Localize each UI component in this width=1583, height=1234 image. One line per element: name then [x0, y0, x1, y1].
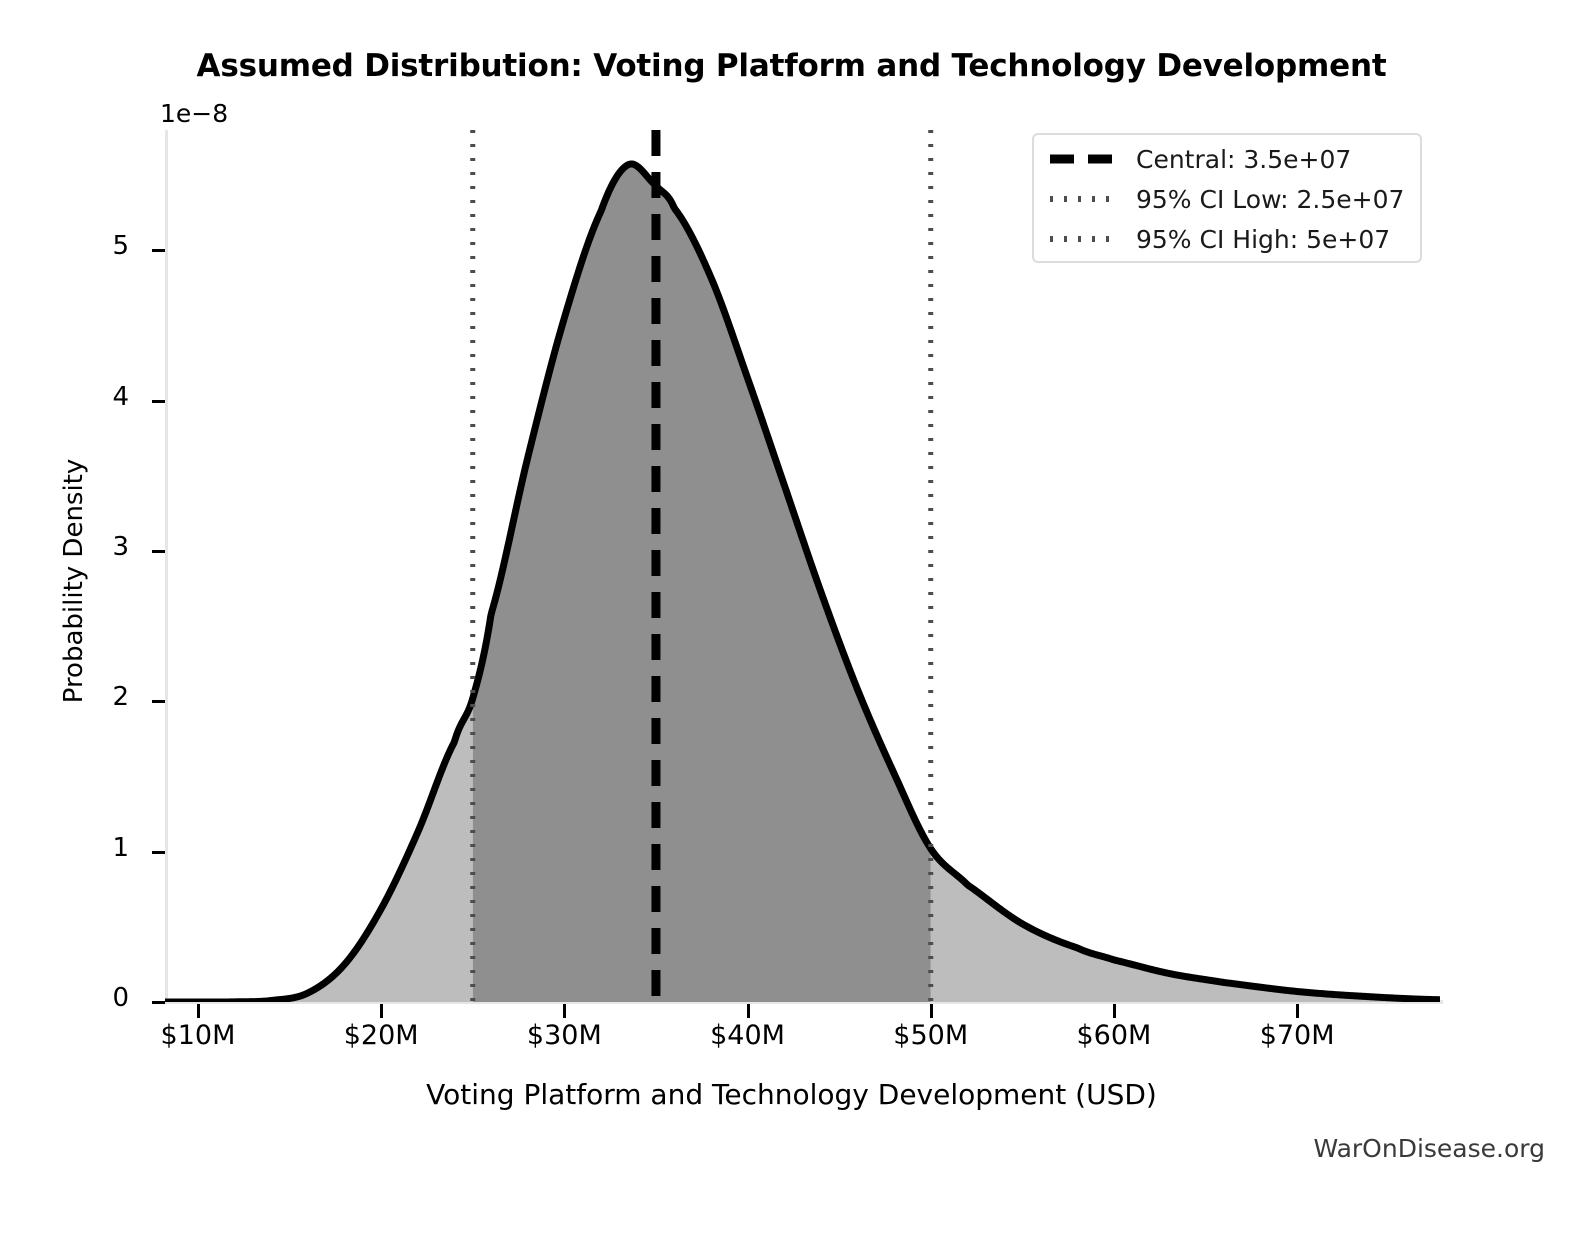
x-tick-mark — [197, 1004, 200, 1018]
legend-label-central: Central: 3.5e+07 — [1136, 145, 1351, 174]
y-tick-mark — [152, 1001, 165, 1004]
x-tick-label: $50M — [851, 1020, 1011, 1051]
y-axis-offset-label: 1e−8 — [160, 99, 228, 128]
legend-swatch-dotted-high — [1048, 230, 1118, 248]
y-tick-mark — [152, 851, 165, 854]
x-tick-mark — [930, 1004, 933, 1018]
y-tick-mark — [152, 249, 165, 252]
y-axis-label: Probability Density — [59, 231, 89, 931]
y-tick-label: 5 — [112, 233, 129, 259]
fill-ci-band — [473, 164, 931, 1002]
x-tick-label: $30M — [484, 1020, 644, 1051]
x-tick-label: $60M — [1034, 1020, 1194, 1051]
legend-item-central[interactable]: Central: 3.5e+07 — [1048, 139, 1351, 179]
x-tick-mark — [563, 1004, 566, 1018]
x-tick-label: $10M — [118, 1020, 278, 1051]
x-tick-label: $70M — [1217, 1020, 1377, 1051]
x-tick-mark — [1296, 1004, 1299, 1018]
x-tick-label: $20M — [301, 1020, 461, 1051]
legend-swatch-dotted-low — [1048, 190, 1118, 208]
fill-left-tail — [165, 698, 473, 1002]
chart-figure: Assumed Distribution: Voting Platform an… — [0, 0, 1583, 1234]
y-tick-label: 3 — [112, 534, 129, 560]
legend-label-ci-low: 95% CI Low: 2.5e+07 — [1136, 185, 1404, 214]
x-axis-label: Voting Platform and Technology Developme… — [0, 1078, 1583, 1111]
y-tick-label: 4 — [112, 384, 129, 410]
x-tick-mark — [747, 1004, 750, 1018]
legend-item-ci-high[interactable]: 95% CI High: 5e+07 — [1048, 219, 1390, 259]
y-tick-label: 2 — [112, 684, 129, 710]
legend[interactable]: Central: 3.5e+07 95% CI Low: 2.5e+07 95%… — [1032, 133, 1422, 263]
x-tick-mark — [1113, 1004, 1116, 1018]
legend-label-ci-high: 95% CI High: 5e+07 — [1136, 225, 1390, 254]
y-tick-mark — [152, 550, 165, 553]
footer-credit: WarOnDisease.org — [1313, 1134, 1545, 1163]
chart-title: Assumed Distribution: Voting Platform an… — [0, 48, 1583, 84]
legend-item-ci-low[interactable]: 95% CI Low: 2.5e+07 — [1048, 179, 1404, 219]
x-tick-mark — [380, 1004, 383, 1018]
y-tick-mark — [152, 700, 165, 703]
y-tick-label: 0 — [112, 985, 129, 1011]
legend-swatch-dashed — [1048, 150, 1118, 168]
x-tick-label: $40M — [668, 1020, 828, 1051]
y-tick-label: 1 — [112, 835, 129, 861]
y-tick-mark — [152, 400, 165, 403]
